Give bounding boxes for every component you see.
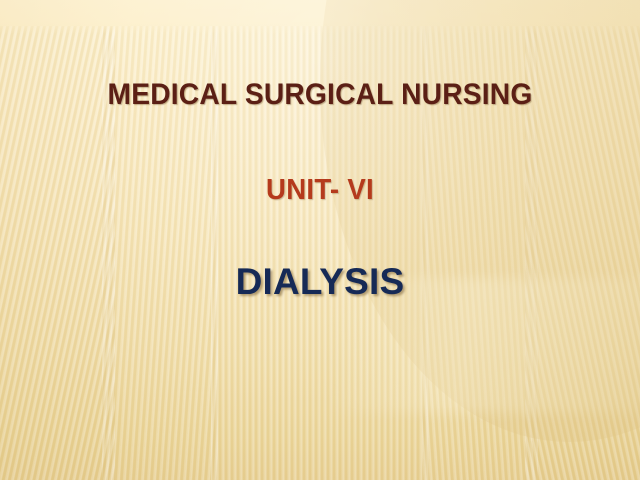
presentation-slide: MEDICAL SURGICAL NURSING UNIT- VI DIALYS… [0, 0, 640, 480]
slide-content: MEDICAL SURGICAL NURSING UNIT- VI DIALYS… [0, 0, 640, 480]
slide-subject-title: DIALYSIS [0, 261, 640, 303]
slide-unit-label: UNIT- VI [16, 174, 624, 207]
slide-title: MEDICAL SURGICAL NURSING [19, 78, 621, 112]
